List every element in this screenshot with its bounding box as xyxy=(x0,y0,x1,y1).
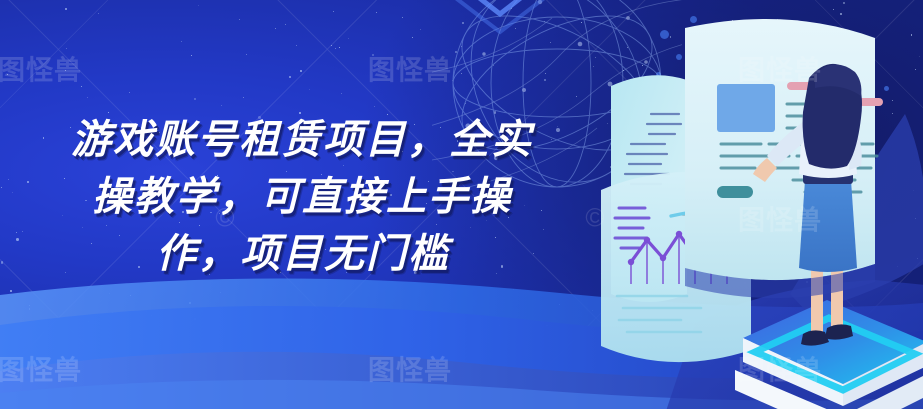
headline-block: 游戏账号租赁项目，全实 操教学，可直接上手操 作，项目无门槛 xyxy=(0,112,600,283)
illustration-woman-dashboard xyxy=(575,0,923,409)
headline-line-3: 作，项目无门槛 xyxy=(0,226,600,283)
headline-line-1: 游戏账号租赁项目，全实 xyxy=(0,112,600,169)
promo-banner: 游戏账号租赁项目，全实 操教学，可直接上手操 作，项目无门槛 图怪兽图怪兽图怪兽… xyxy=(0,0,923,409)
chevron-accent-icon xyxy=(440,0,560,38)
headline-line-2: 操教学，可直接上手操 xyxy=(0,169,600,226)
